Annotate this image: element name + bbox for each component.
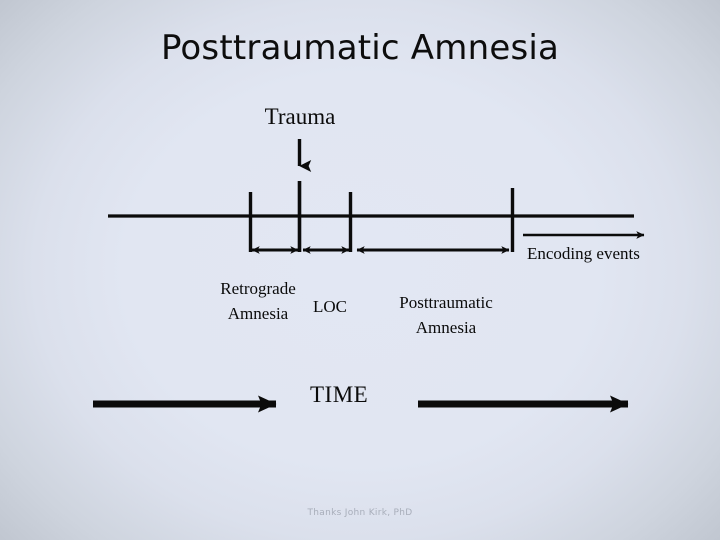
retrograde-amnesia-label: Retrograde Amnesia <box>198 276 318 326</box>
posttraumatic-amnesia-label-line1: Posttraumatic <box>382 290 510 315</box>
encoding-events-label: Encoding events <box>527 244 640 264</box>
credit-text: Thanks John Kirk, PhD <box>0 508 720 518</box>
timeline-diagram <box>0 0 720 540</box>
time-axis-label: TIME <box>310 382 368 408</box>
slide-canvas: Posttraumatic Amnesia Trauma <box>0 0 720 540</box>
posttraumatic-amnesia-label-line2: Amnesia <box>382 315 510 340</box>
posttraumatic-amnesia-label: Posttraumatic Amnesia <box>382 290 510 340</box>
retrograde-amnesia-label-line1: Retrograde <box>198 276 318 301</box>
retrograde-amnesia-label-line2: Amnesia <box>198 301 318 326</box>
loc-label: LOC <box>313 297 347 317</box>
